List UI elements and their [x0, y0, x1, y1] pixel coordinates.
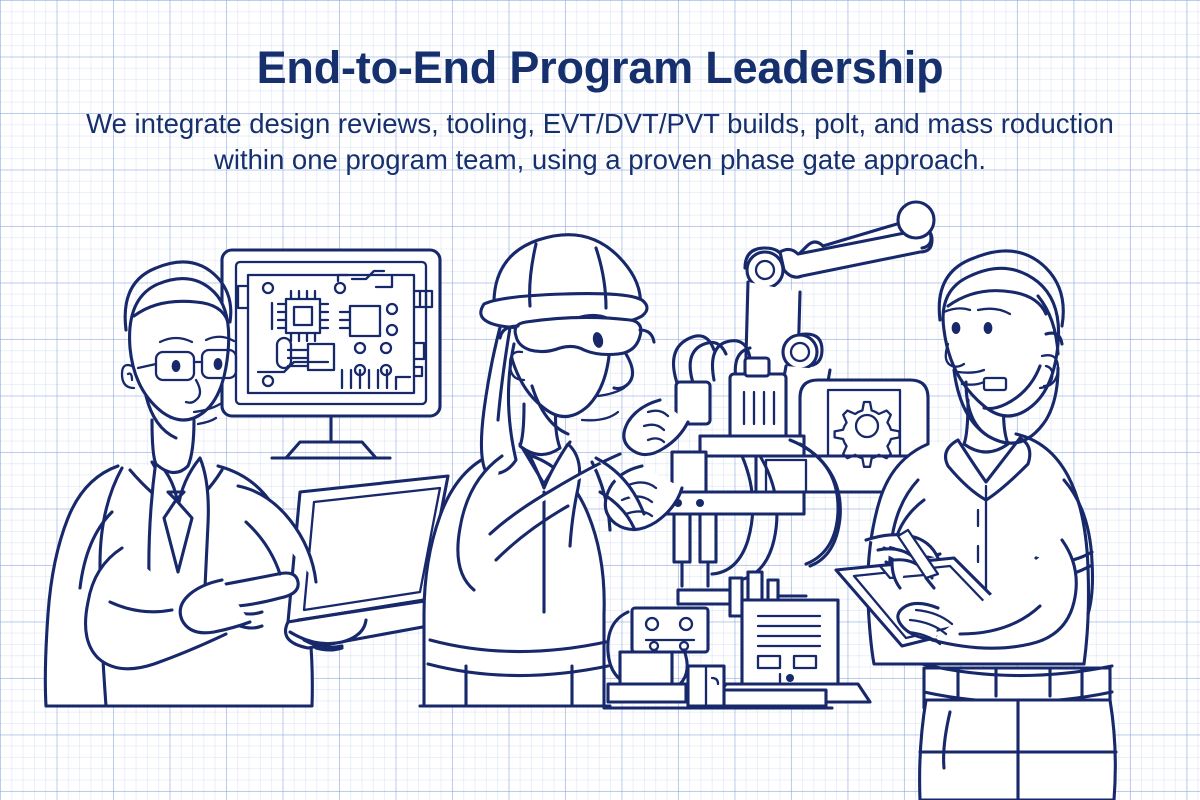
pcb-board: [238, 271, 432, 393]
illustration-layer: [0, 0, 1200, 800]
poster-canvas: End-to-End Program Leadership We integra…: [0, 0, 1200, 800]
technician-center: [424, 235, 654, 706]
